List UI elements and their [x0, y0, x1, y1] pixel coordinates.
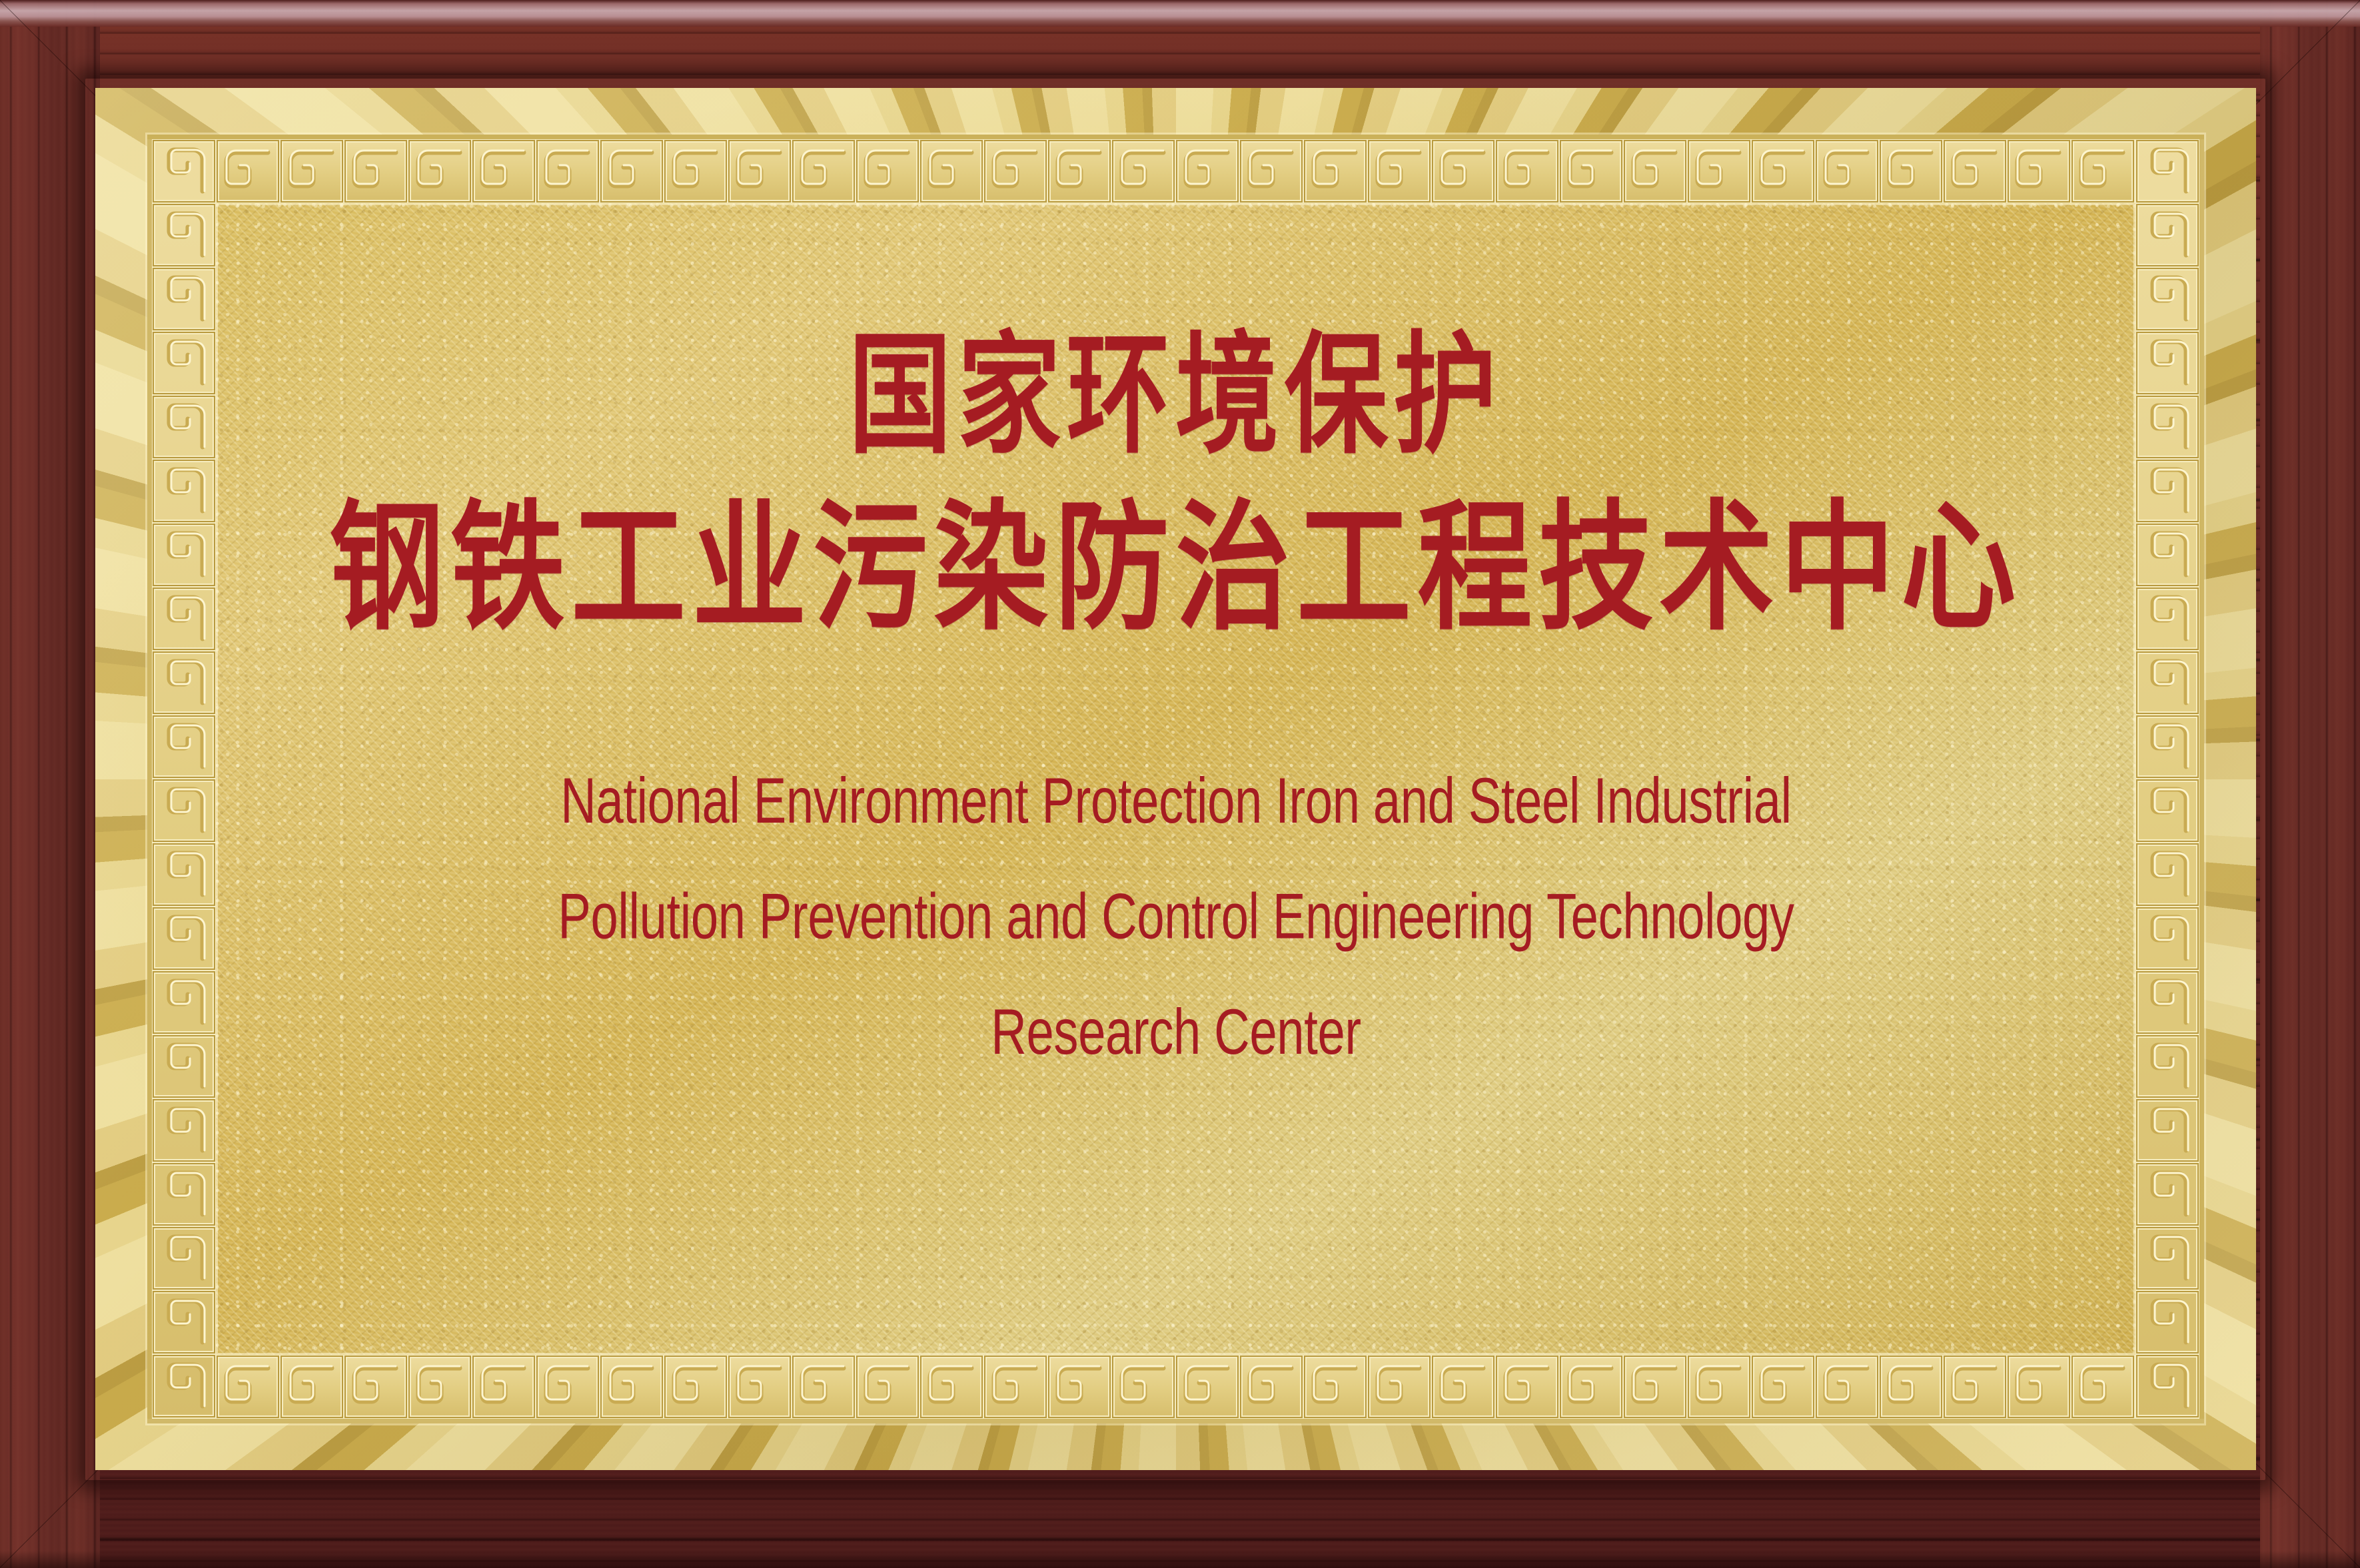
greek-key-band-bottom — [152, 1355, 2199, 1419]
english-subtitle-line3: Research Center — [334, 975, 2017, 1090]
gold-plate: 国家环境保护 钢铁工业污染防治工程技术中心 National Environme… — [95, 88, 2256, 1470]
english-subtitle-line2: Pollution Prevention and Control Enginee… — [334, 859, 2017, 974]
chinese-title-line1-row: 国家环境保护 — [855, 330, 1496, 466]
greek-key-band-top — [152, 139, 2199, 203]
plaque-text-block: 国家环境保护 钢铁工业污染防治工程技术中心 National Environme… — [216, 203, 2135, 1355]
wood-frame-right-stile — [2260, 0, 2360, 1568]
plaque-image: 国家环境保护 钢铁工业污染防治工程技术中心 National Environme… — [0, 0, 2360, 1568]
english-subtitle: National Environment Protection Iron and… — [334, 743, 2017, 1090]
chinese-title-line1: 国家环境保护 — [849, 330, 1502, 462]
wood-frame-top-highlight — [0, 0, 2360, 27]
greek-key-band-left — [152, 139, 216, 1419]
greek-key-border: 国家环境保护 钢铁工业污染防治工程技术中心 National Environme… — [147, 135, 2204, 1423]
chinese-title-line2: 钢铁工业污染防治工程技术中心 — [329, 498, 2022, 638]
inner-panel: 国家环境保护 钢铁工业污染防治工程技术中心 National Environme… — [216, 203, 2135, 1355]
english-subtitle-line1: National Environment Protection Iron and… — [334, 743, 2017, 859]
wood-frame-bottom-shadow — [0, 1551, 2360, 1568]
greek-key-band-right — [2135, 139, 2199, 1419]
chinese-title-line2-row: 钢铁工业污染防治工程技术中心 — [329, 498, 2022, 658]
